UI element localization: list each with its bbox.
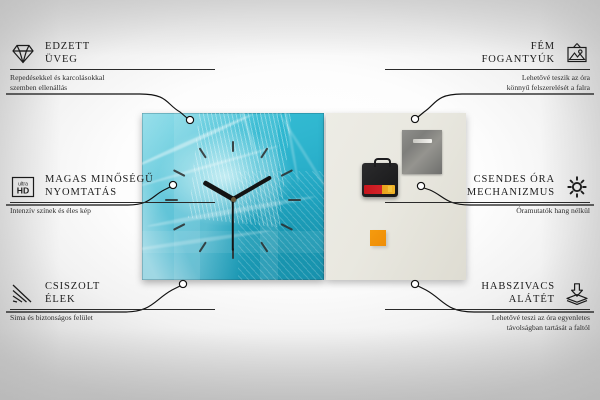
callout-header: CSENDES ÓRA MECHANIZMUS: [385, 174, 590, 199]
clock-tick: [288, 199, 301, 201]
callout-silent-mechanism[interactable]: CSENDES ÓRA MECHANIZMUS Óramutatók hang …: [385, 174, 590, 216]
callout-title: FÉM FOGANTYÚK: [385, 41, 555, 66]
callout-title: CSISZOLT ÉLEK: [45, 281, 100, 306]
callout-header: EDZETT ÜVEG: [10, 41, 215, 66]
callout-divider: [385, 202, 590, 203]
callout-metal-handles[interactable]: FÉM FOGANTYÚK Lehetővé teszik az óra kön…: [385, 41, 590, 93]
clock-second-hand: [232, 199, 234, 251]
foam-pad-icon: [564, 282, 590, 306]
callout-divider: [10, 309, 215, 310]
callout-title: EDZETT ÜVEG: [45, 41, 90, 66]
polished-edges-icon: [10, 282, 36, 306]
gear-icon: [564, 175, 590, 199]
callout-tempered-glass[interactable]: EDZETT ÜVEG Repedésekkel és karcolásokka…: [10, 41, 215, 93]
clock-tick: [232, 140, 234, 151]
callout-divider: [385, 69, 590, 70]
callout-divider: [385, 309, 590, 310]
callout-header: FÉM FOGANTYÚK: [385, 41, 590, 66]
foam-pad-square: [370, 230, 386, 246]
callout-subtitle: Intenzív színek és éles kép: [10, 206, 215, 216]
callout-subtitle: Lehetővé teszi az óra egyenletes távolsá…: [385, 313, 590, 333]
callout-divider: [10, 69, 215, 70]
callout-subtitle: Lehetővé teszik az óra könnyű felszerelé…: [385, 73, 590, 93]
callout-subtitle: Repedésekkel és karcolásokkal szemben el…: [10, 73, 215, 93]
callout-polished-edges[interactable]: CSISZOLT ÉLEK Sima és biztonságos felüle…: [10, 281, 215, 323]
callout-foam-pad[interactable]: HABSZIVACS ALÁTÉT Lehetővé teszi az óra …: [385, 281, 590, 333]
callout-header: CSISZOLT ÉLEK: [10, 281, 215, 306]
callout-subtitle: Óramutatók hang nélkül: [385, 206, 590, 216]
infographic-canvas: EDZETT ÜVEG Repedésekkel és karcolásokka…: [0, 0, 600, 400]
callout-header: ultra HD MAGAS MINŐSÉGŰ NYOMTATÁS: [10, 174, 215, 199]
glass-reflection: [260, 113, 278, 280]
metal-hanger-plate: [402, 130, 442, 174]
callout-header: HABSZIVACS ALÁTÉT: [385, 281, 590, 306]
diamond-icon: [10, 42, 36, 66]
callout-title: CSENDES ÓRA MECHANIZMUS: [385, 174, 555, 199]
callout-title: MAGAS MINŐSÉGŰ NYOMTATÁS: [45, 174, 154, 199]
callout-divider: [10, 202, 215, 203]
svg-text:HD: HD: [17, 185, 29, 195]
callout-high-quality-print[interactable]: ultra HD MAGAS MINŐSÉGŰ NYOMTATÁS Intenz…: [10, 174, 215, 216]
clock-pivot: [231, 197, 236, 202]
ultra-hd-icon: ultra HD: [10, 175, 36, 199]
callout-title: HABSZIVACS ALÁTÉT: [385, 281, 555, 306]
picture-hanger-icon: [564, 42, 590, 66]
callout-subtitle: Sima és biztonságos felület: [10, 313, 215, 323]
